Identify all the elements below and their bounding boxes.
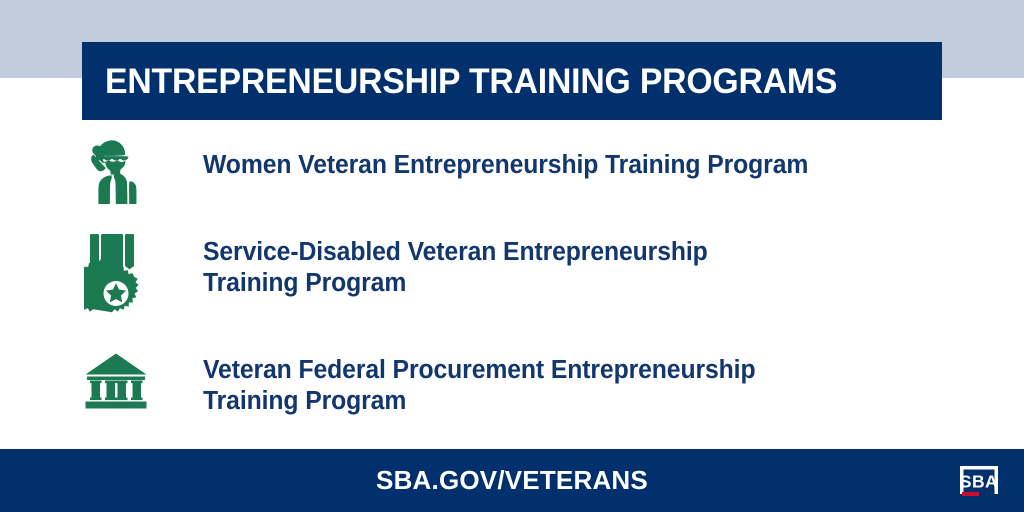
poster-canvas: ENTREPRENEURSHIP TRAINING PROGRAMS	[0, 0, 1024, 512]
list-item-label: Service-Disabled Veteran Entrepreneurshi…	[203, 234, 708, 299]
footer-bar: SBA.GOV/VETERANS SBA	[0, 449, 1024, 512]
title-banner: ENTREPRENEURSHIP TRAINING PROGRAMS	[82, 42, 942, 120]
sba-logo: SBA	[948, 457, 1010, 505]
list-item: Veteran Federal Procurement Entrepreneur…	[0, 352, 1024, 417]
svg-text:SBA: SBA	[960, 472, 998, 492]
footer-url[interactable]: SBA.GOV/VETERANS	[0, 449, 1024, 512]
list-item: Service-Disabled Veteran Entrepreneurshi…	[0, 234, 1024, 318]
saluting-soldier-icon	[0, 138, 203, 206]
list-item-label: Veteran Federal Procurement Entrepreneur…	[203, 352, 755, 417]
page-title: ENTREPRENEURSHIP TRAINING PROGRAMS	[105, 64, 837, 99]
list-item: Women Veteran Entrepreneurship Training …	[0, 138, 1024, 206]
federal-building-icon	[0, 352, 203, 410]
medal-icon	[0, 234, 203, 318]
list-item-label: Women Veteran Entrepreneurship Training …	[203, 138, 808, 181]
